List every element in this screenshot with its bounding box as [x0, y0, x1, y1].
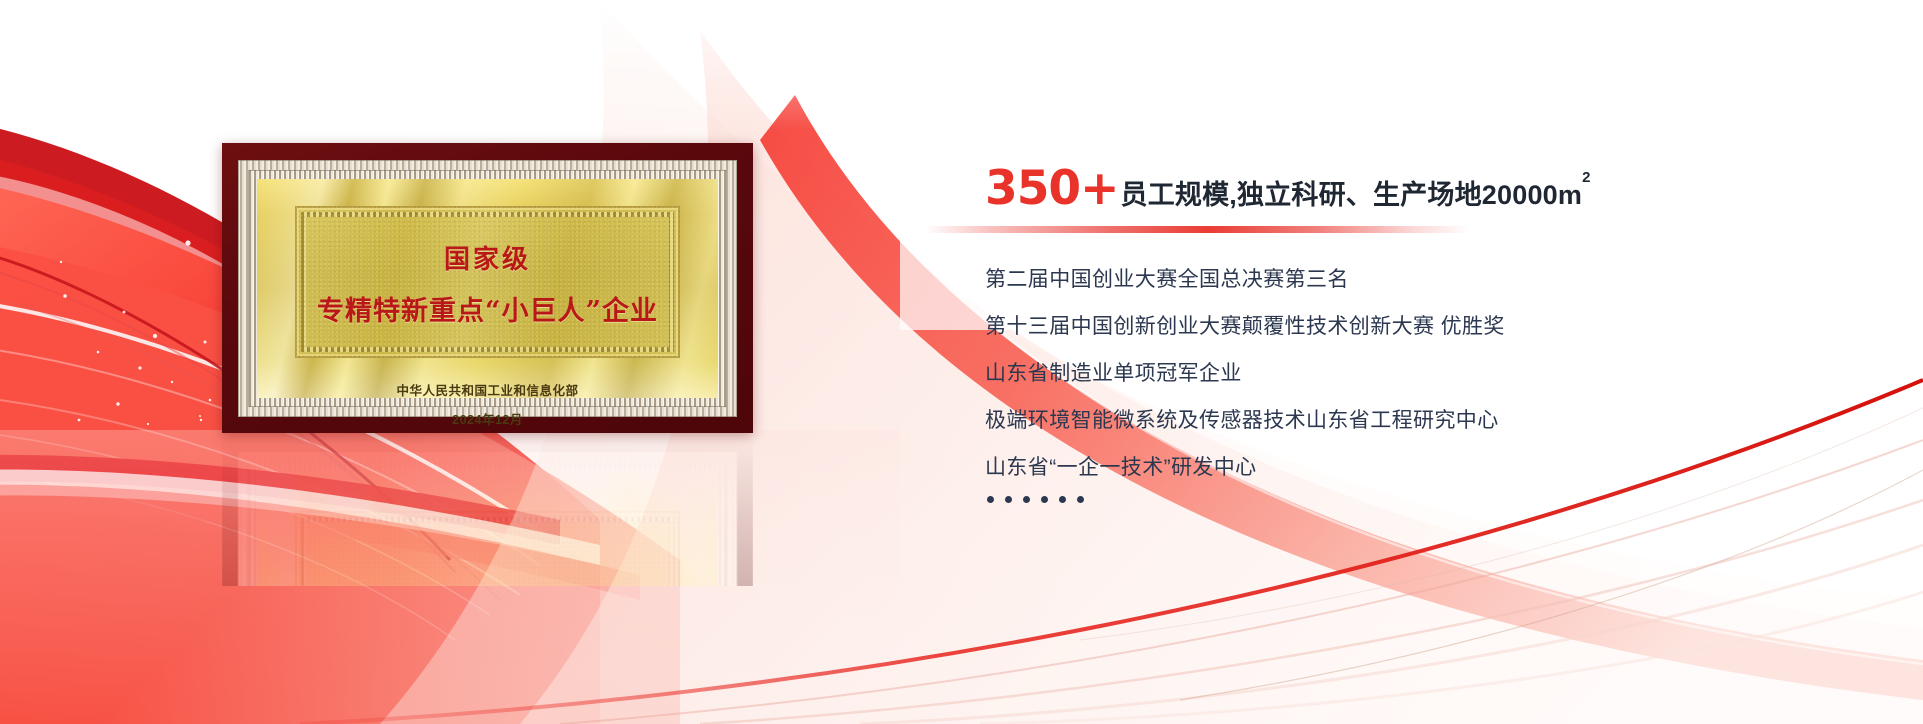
list-item: 极端环境智能微系统及传感器技术山东省工程研究中心 [985, 410, 1815, 431]
list-item: 山东省“一企一技术”研发中心 [985, 457, 1815, 478]
plaque-title-line-2: 专精特新重点“小巨人”企业 [317, 289, 658, 328]
headline-unit-superscript: 2 [1582, 169, 1591, 186]
ellipsis-dot [1041, 496, 1048, 503]
plaque-reflection [222, 436, 753, 586]
list-item: 第二届中国创业大赛全国总决赛第三名 [985, 269, 1815, 290]
achievements-list: 第二届中国创业大赛全国总决赛第三名 第十三届中国创新创业大赛颠覆性技术创新大赛 … [985, 269, 1815, 478]
plaque-gold-plate: 国家级 专精特新重点“小巨人”企业 中华人民共和国工业和信息化部 2024年12… [257, 179, 718, 398]
left-ribbon-crest [0, 455, 640, 600]
award-plaque: 国家级 专精特新重点“小巨人”企业 中华人民共和国工业和信息化部 2024年12… [222, 143, 753, 433]
plaque-title-line-1: 国家级 [444, 239, 531, 276]
plaque-bevel-inner-reflection [248, 462, 727, 586]
plaque-bevel-outer-reflection [238, 452, 737, 586]
honors-banner: 国家级 专精特新重点“小巨人”企业 中华人民共和国工业和信息化部 2024年12… [0, 0, 1923, 724]
plaque-date: 2024年12月 [452, 409, 523, 428]
headline-text: 员工规模,独立科研、生产场地20000m2 [1121, 182, 1591, 209]
headline: 350+ 员工规模,独立科研、生产场地20000m2 [985, 165, 1815, 212]
list-item: 第十三届中国创新创业大赛颠覆性技术创新大赛 优胜奖 [985, 316, 1815, 337]
ellipsis-dot [1059, 496, 1066, 503]
plaque-text-block: 国家级 专精特新重点“小巨人”企业 中华人民共和国工业和信息化部 2024年12… [257, 179, 718, 398]
plaque-frame-reflection [222, 436, 753, 586]
headline-underline-rule [925, 226, 1470, 233]
plaque-gold-field-reflection [295, 511, 680, 586]
ellipsis-dot [1077, 496, 1084, 503]
plaque-issuer: 中华人民共和国工业和信息化部 [396, 380, 578, 399]
list-item: 山东省制造业单项冠军企业 [985, 363, 1815, 384]
headline-rest-text: 员工规模,独立科研、生产场地20000m [1121, 180, 1583, 210]
info-column: 350+ 员工规模,独立科研、生产场地20000m2 第二届中国创业大赛全国总决… [985, 165, 1815, 503]
plaque-gold-plate-reflection [257, 471, 718, 586]
ellipsis-dot [1023, 496, 1030, 503]
ellipsis-dots [987, 496, 1815, 503]
plaque-bevel-outer: 国家级 专精特新重点“小巨人”企业 中华人民共和国工业和信息化部 2024年12… [238, 160, 737, 417]
headline-number: 350+ [985, 165, 1119, 212]
ellipsis-dot [1005, 496, 1012, 503]
ellipsis-dot [987, 496, 994, 503]
plaque-bevel-inner: 国家级 专精特新重点“小巨人”企业 中华人民共和国工业和信息化部 2024年12… [248, 170, 727, 407]
